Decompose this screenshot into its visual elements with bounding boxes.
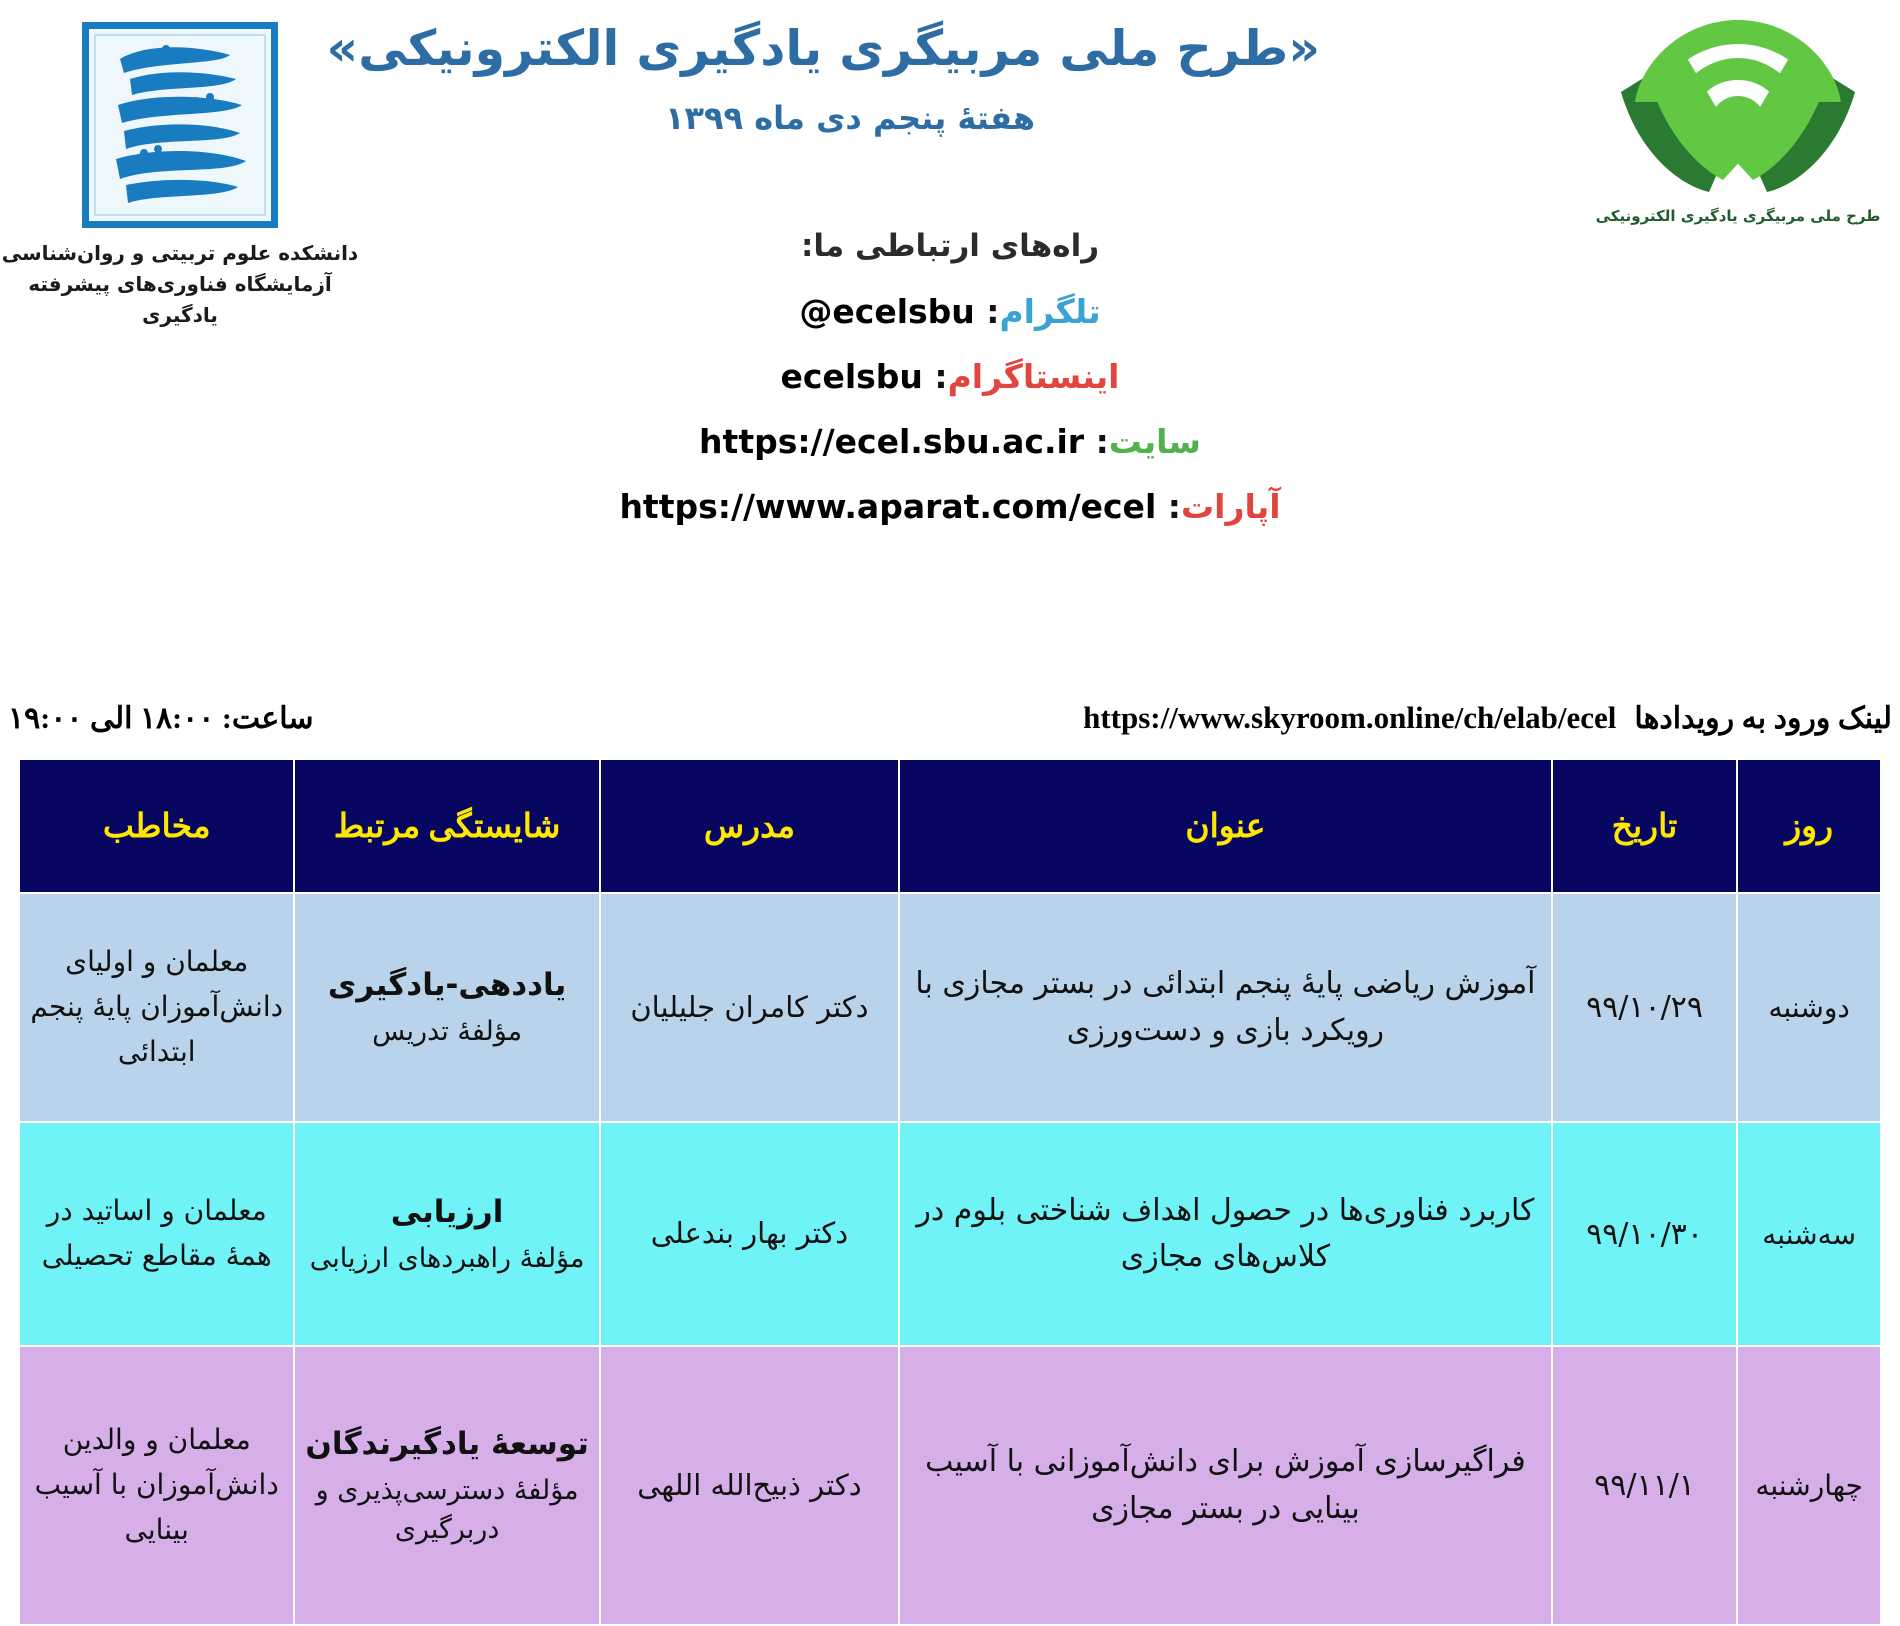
competency-sub: مؤلفهٔ راهبردهای ارزیابی	[303, 1239, 590, 1278]
event-time-label: ساعت: ۱۸:۰۰ الی ۱۹:۰۰	[8, 701, 314, 736]
page-title: «طرح ملی مربیگری یادگیری الکترونیکی»	[380, 20, 1320, 79]
column-header-day: روز	[1737, 759, 1881, 893]
table-row: سه‌شنبه ۹۹/۱۰/۳۰ کاربرد فناوری‌ها در حصو…	[19, 1122, 1881, 1346]
contact-row-aparat: آپارات: https://www.aparat.com/ecel	[0, 487, 1900, 526]
schedule-table-wrap: روز تاریخ عنوان مدرس شایستگی مرتبط مخاطب…	[18, 758, 1882, 1626]
table-header-row: روز تاریخ عنوان مدرس شایستگی مرتبط مخاطب	[19, 759, 1881, 893]
contact-value-instagram[interactable]: ecelsbu	[781, 357, 923, 396]
event-link-bar: لینک ورود به رویدادها https://www.skyroo…	[0, 700, 1900, 736]
cell-day: چهارشنبه	[1737, 1346, 1881, 1625]
table-row: دوشنبه ۹۹/۱۰/۲۹ آموزش ریاضی پایهٔ پنجم ا…	[19, 893, 1881, 1122]
event-link-group: لینک ورود به رویدادها https://www.skyroo…	[1083, 700, 1892, 736]
competency-main: یاددهی-یادگیری	[303, 963, 590, 1008]
competency-sub: مؤلفهٔ تدریس	[303, 1012, 590, 1051]
cell-audience: معلمان و اساتید در همهٔ مقاطع تحصیلی	[19, 1122, 294, 1346]
cell-lecturer: دکتر کامران جلیلیان	[600, 893, 899, 1122]
shahid-beheshti-university-logo-icon	[82, 22, 278, 228]
contact-label-telegram: تلگرام	[1000, 292, 1101, 331]
contact-separator: :	[1168, 487, 1181, 526]
contact-row-telegram: تلگرام: @ecelsbu	[0, 292, 1900, 331]
contact-block: راه‌های ارتباطی ما: تلگرام: @ecelsbu این…	[0, 228, 1900, 552]
contact-separator: :	[986, 292, 999, 331]
event-link-label: لینک ورود به رویدادها	[1634, 701, 1892, 736]
contact-row-instagram: اینستاگرام: ecelsbu	[0, 357, 1900, 396]
contact-label-site: سایت	[1109, 422, 1201, 461]
ecel-logo-block: طرح ملی مربیگری یادگیری الکترونیکی	[1588, 6, 1888, 225]
cell-lecturer: دکتر ذبیح‌الله اللهی	[600, 1346, 899, 1625]
cell-date: ۹۹/۱۰/۲۹	[1552, 893, 1738, 1122]
contact-label-aparat: آپارات	[1181, 487, 1281, 526]
cell-lecturer: دکتر بهار بندعلی	[600, 1122, 899, 1346]
column-header-date: تاریخ	[1552, 759, 1738, 893]
cell-competency: توسعهٔ یادگیرندگان مؤلفهٔ دسترسی‌پذیری و…	[294, 1346, 599, 1625]
cell-date: ۹۹/۱۱/۱	[1552, 1346, 1738, 1625]
cell-day: سه‌شنبه	[1737, 1122, 1881, 1346]
contact-heading: راه‌های ارتباطی ما:	[0, 228, 1900, 264]
cell-day: دوشنبه	[1737, 893, 1881, 1122]
cell-date: ۹۹/۱۰/۳۰	[1552, 1122, 1738, 1346]
column-header-lecturer: مدرس	[600, 759, 899, 893]
column-header-title: عنوان	[899, 759, 1552, 893]
contact-value-site[interactable]: https://ecel.sbu.ac.ir	[699, 422, 1084, 461]
cell-audience: معلمان و اولیای دانش‌آموزان پایهٔ پنجم ا…	[19, 893, 294, 1122]
contact-label-instagram: اینستاگرام	[948, 357, 1120, 396]
page-subtitle: هفتهٔ پنجم دی ماه ۱۳۹۹	[380, 99, 1320, 137]
contact-value-aparat[interactable]: https://www.aparat.com/ecel	[619, 487, 1156, 526]
cell-competency: ارزیابی مؤلفهٔ راهبردهای ارزیابی	[294, 1122, 599, 1346]
cell-competency: یاددهی-یادگیری مؤلفهٔ تدریس	[294, 893, 599, 1122]
ecel-broadcast-hands-logo-icon	[1613, 6, 1863, 211]
event-link-url[interactable]: https://www.skyroom.online/ch/elab/ecel	[1083, 700, 1616, 736]
cell-title: فراگیرسازی آموزش برای دانش‌آموزانی با آس…	[899, 1346, 1552, 1625]
schedule-table: روز تاریخ عنوان مدرس شایستگی مرتبط مخاطب…	[18, 758, 1882, 1626]
competency-main: ارزیابی	[303, 1190, 590, 1235]
competency-sub: مؤلفهٔ دسترسی‌پذیری و دربرگیری	[303, 1471, 590, 1549]
competency-main: توسعهٔ یادگیرندگان	[303, 1422, 590, 1467]
cell-title: آموزش ریاضی پایهٔ پنجم ابتدائی در بستر م…	[899, 893, 1552, 1122]
column-header-audience: مخاطب	[19, 759, 294, 893]
column-header-competency: شایستگی مرتبط	[294, 759, 599, 893]
contact-row-site: سایت: https://ecel.sbu.ac.ir	[0, 422, 1900, 461]
cell-title: کاربرد فناوری‌ها در حصول اهداف شناختی بل…	[899, 1122, 1552, 1346]
ecel-logo-caption: طرح ملی مربیگری یادگیری الکترونیکی	[1588, 207, 1888, 225]
contact-separator: :	[1096, 422, 1109, 461]
contact-value-telegram[interactable]: @ecelsbu	[799, 292, 974, 331]
contact-separator: :	[934, 357, 947, 396]
title-block: «طرح ملی مربیگری یادگیری الکترونیکی» هفت…	[380, 20, 1320, 137]
cell-audience: معلمان و والدین دانش‌آموزان با آسیب بینا…	[19, 1346, 294, 1625]
table-row: چهارشنبه ۹۹/۱۱/۱ فراگیرسازی آموزش برای د…	[19, 1346, 1881, 1625]
